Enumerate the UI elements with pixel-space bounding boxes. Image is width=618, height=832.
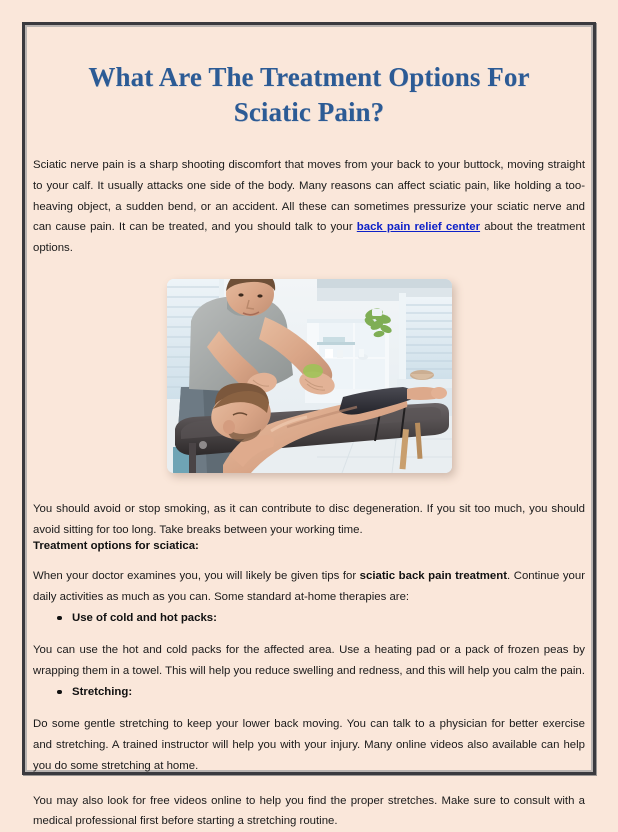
page-title: What Are The Treatment Options For Sciat…	[33, 50, 585, 129]
closing-paragraph: You may also look for free videos online…	[33, 791, 585, 832]
therapy-list-2: Stretching:	[33, 682, 585, 703]
back-pain-relief-center-link[interactable]: back pain relief center	[357, 221, 480, 233]
doctor-text-part1: When your doctor examines you, you will …	[33, 570, 360, 582]
intro-paragraph: Sciatic nerve pain is a sharp shooting d…	[33, 155, 585, 259]
massage-therapy-photo	[167, 279, 452, 473]
stretching-paragraph: Do some gentle stretching to keep your l…	[33, 714, 585, 776]
therapy-list-1: Use of cold and hot packs:	[33, 608, 585, 629]
document-content: What Are The Treatment Options For Sciat…	[33, 50, 585, 832]
sciatic-back-pain-treatment-emphasis: sciatic back pain treatment	[360, 570, 507, 582]
figure-container	[33, 279, 585, 473]
cold-hot-packs-paragraph: You can use the hot and cold packs for t…	[33, 640, 585, 682]
list-item: Use of cold and hot packs:	[33, 608, 585, 629]
treatment-options-heading: Treatment options for sciatica:	[33, 540, 585, 552]
list-item: Stretching:	[33, 682, 585, 703]
smoking-paragraph: You should avoid or stop smoking, as it …	[33, 499, 585, 541]
document-page: What Are The Treatment Options For Sciat…	[0, 0, 618, 800]
doctor-paragraph: When your doctor examines you, you will …	[33, 566, 585, 608]
